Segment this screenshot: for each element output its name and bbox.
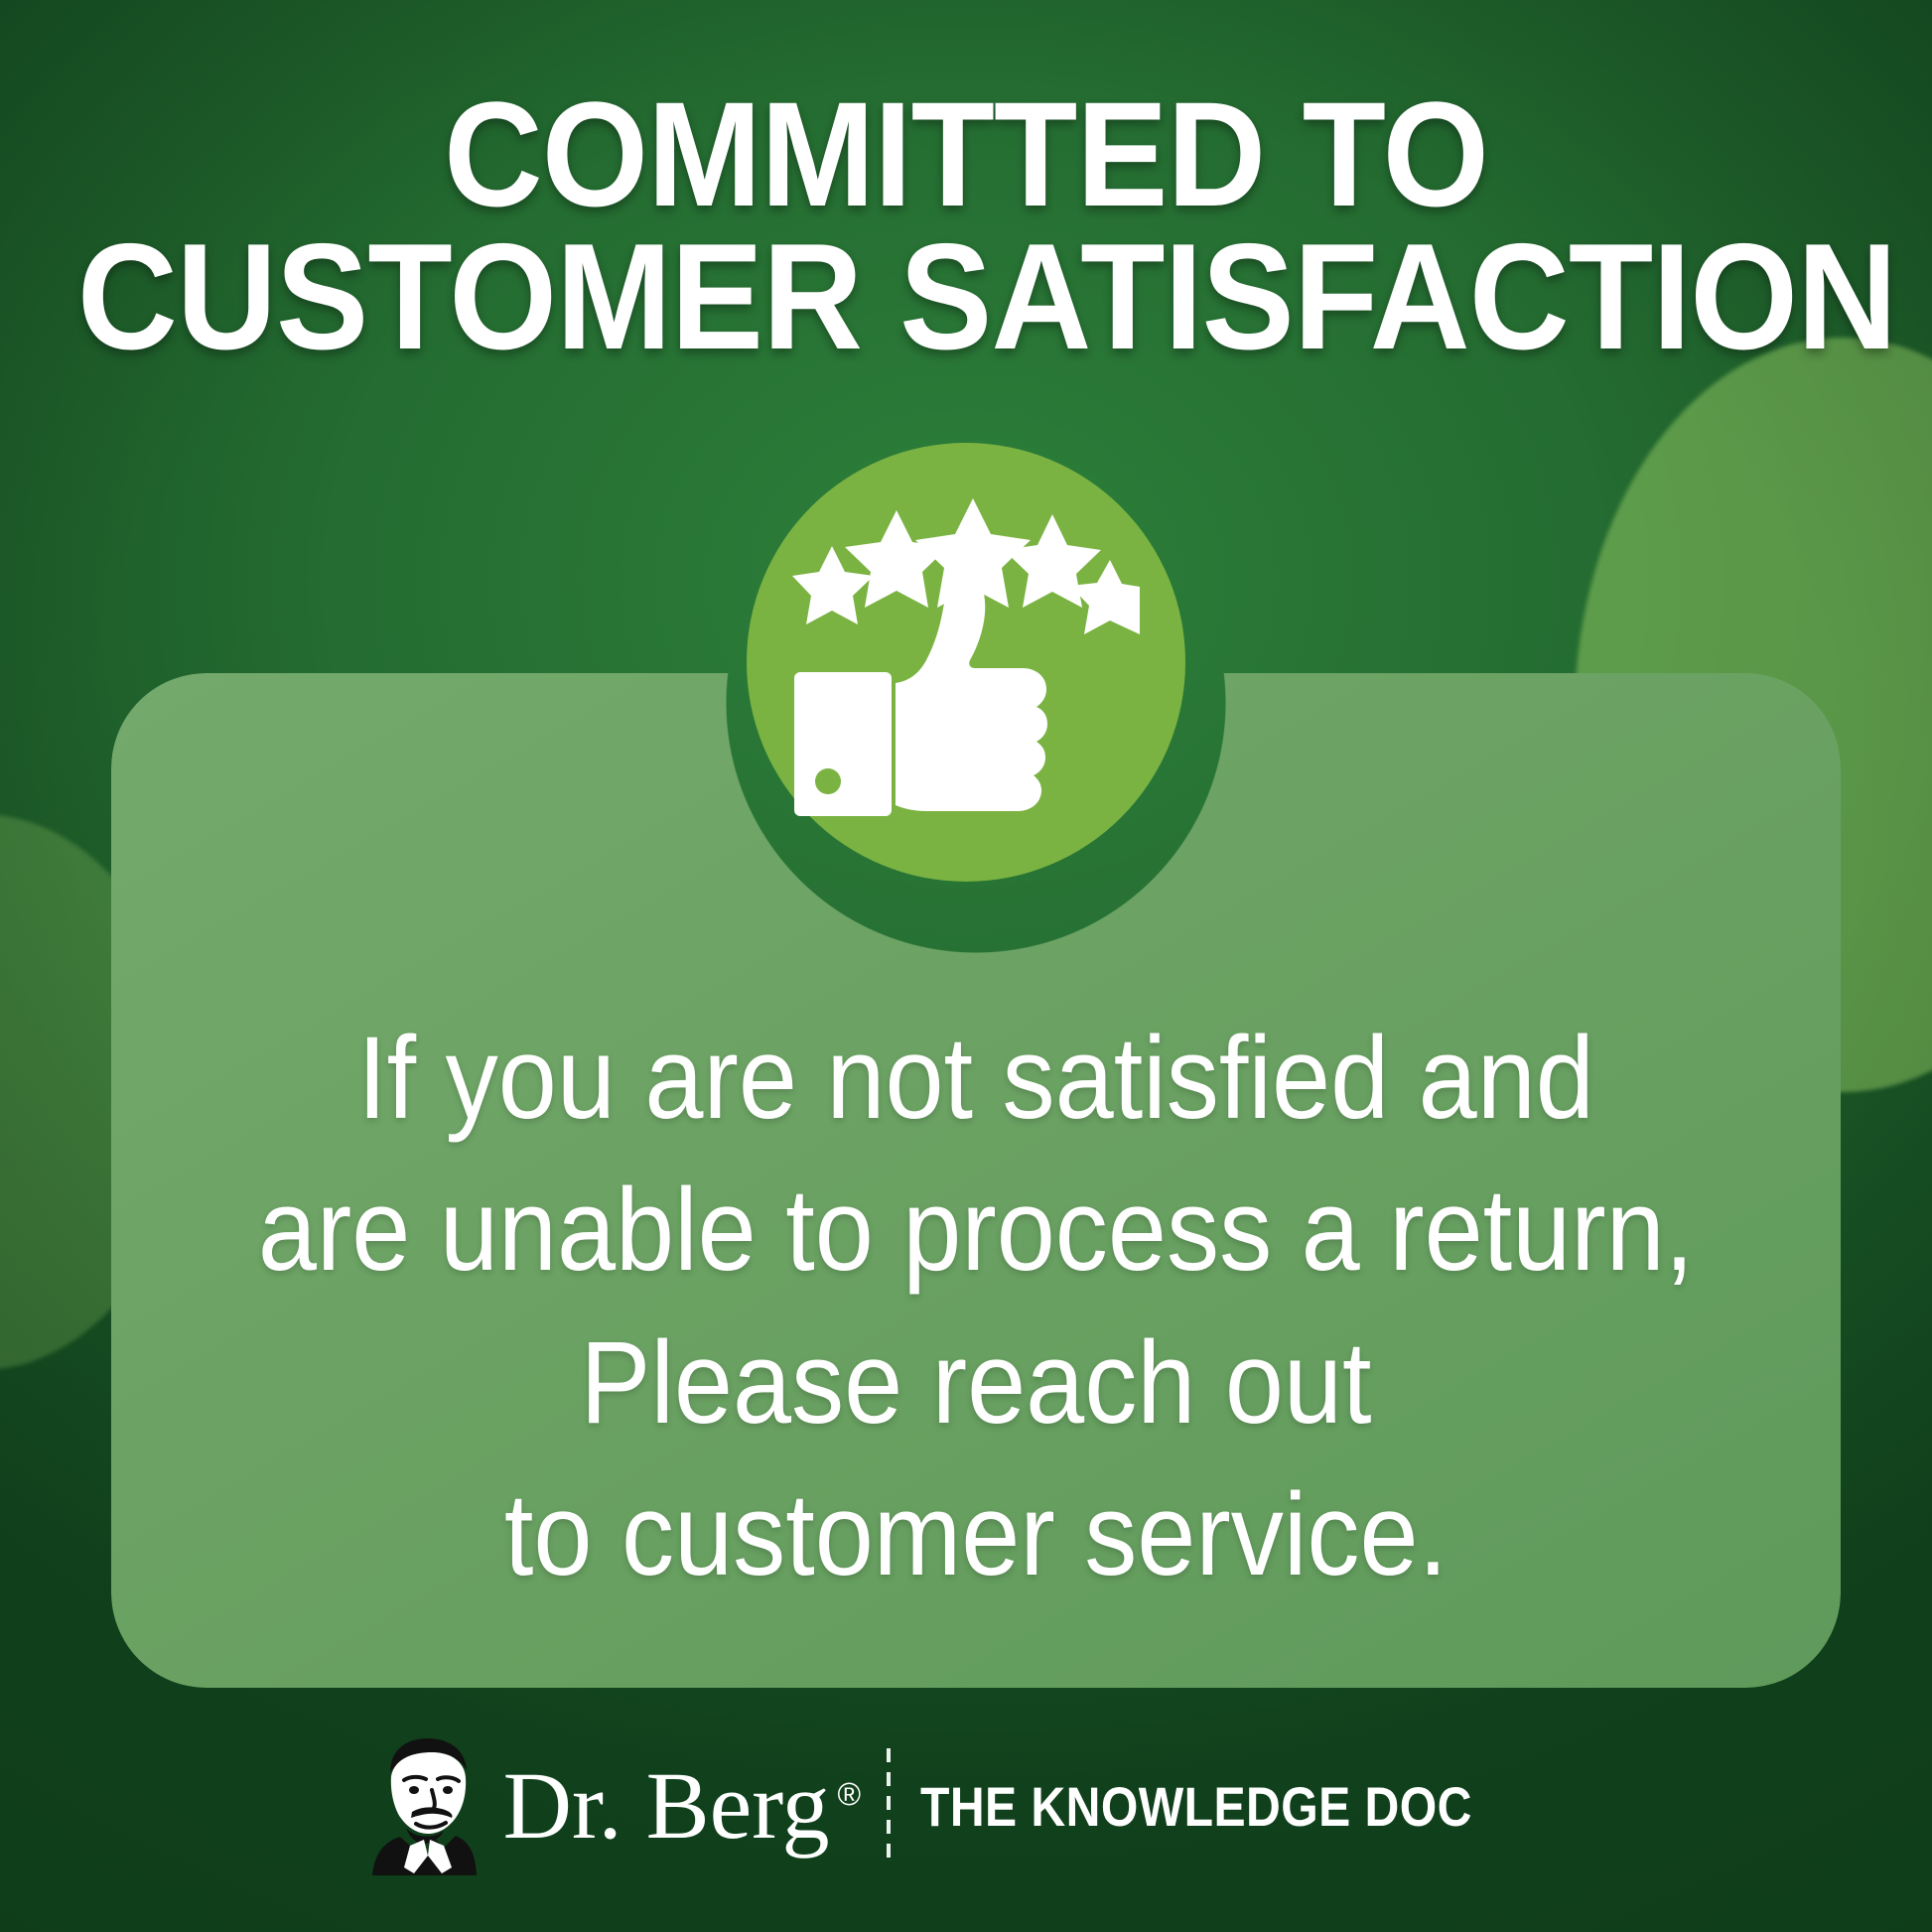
page-title: COMMITTED TO CUSTOMER SATISFACTION	[77, 83, 1855, 368]
card-message-line-4: to customer service.	[198, 1459, 1754, 1611]
card-message: If you are not satisfied and are unable …	[198, 1003, 1754, 1612]
brand-tagline: THE KNOWLEDGE DOC	[920, 1774, 1472, 1839]
brand-footer: Dr. Berg® THE KNOWLEDGE DOC	[0, 1731, 1932, 1880]
registered-mark-icon: ®	[838, 1776, 862, 1812]
headline-line-1: COMMITTED TO	[77, 83, 1855, 225]
headline-line-2: CUSTOMER SATISFACTION	[77, 225, 1855, 368]
dr-berg-portrait-icon	[370, 1736, 478, 1875]
card-message-line-1: If you are not satisfied and	[198, 1003, 1754, 1155]
brand-name-text: Dr. Berg	[503, 1752, 830, 1859]
card-message-line-2: are unable to process a return,	[198, 1155, 1754, 1307]
satisfaction-badge	[747, 443, 1185, 882]
thumbs-up-five-stars-icon	[792, 498, 1140, 826]
promo-graphic: COMMITTED TO CUSTOMER SATISFACTION	[0, 0, 1932, 1932]
dashed-divider	[887, 1748, 891, 1863]
brand-wordmark: Dr. Berg®	[503, 1758, 861, 1854]
card-message-line-3: Please reach out	[198, 1308, 1754, 1459]
